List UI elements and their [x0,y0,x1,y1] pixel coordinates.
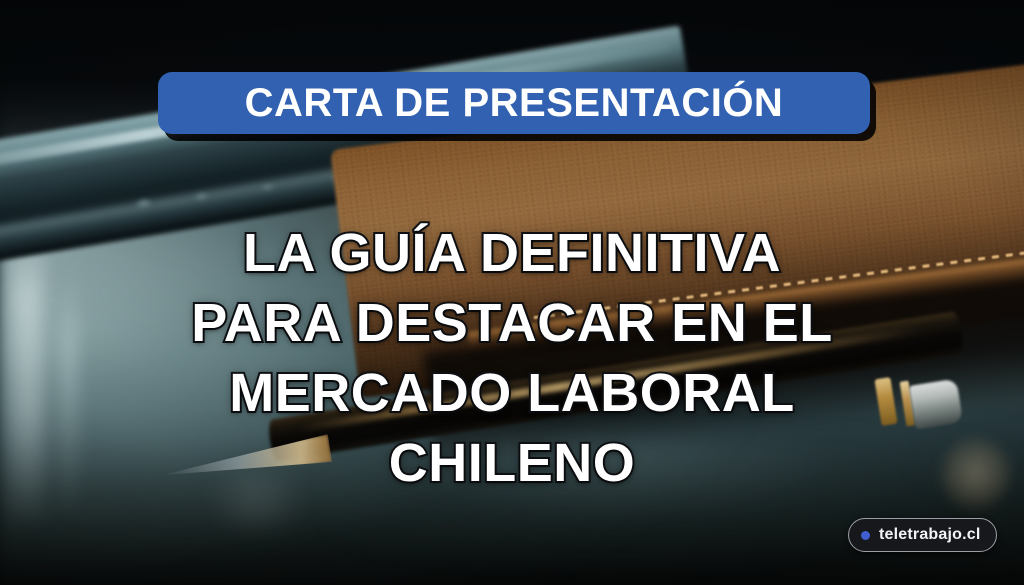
brand-name-label: teletrabajo.cl [879,527,981,543]
category-badge: CARTA DE PRESENTACIÓN [158,72,870,134]
headline-line-2: PARA DESTACAR EN EL [0,288,1024,358]
hero-banner: CARTA DE PRESENTACIÓN LA GUÍA DEFINITIVA… [0,0,1024,585]
headline-line-1: LA GUÍA DEFINITIVA [0,218,1024,288]
headline-line-4: CHILENO [0,428,1024,498]
headline: LA GUÍA DEFINITIVA PARA DESTACAR EN EL M… [0,218,1024,498]
brand-logo-pill[interactable]: teletrabajo.cl [848,518,997,552]
headline-line-3: MERCADO LABORAL [0,358,1024,428]
brand-dot-icon [861,531,870,540]
category-badge-label: CARTA DE PRESENTACIÓN [245,83,784,123]
